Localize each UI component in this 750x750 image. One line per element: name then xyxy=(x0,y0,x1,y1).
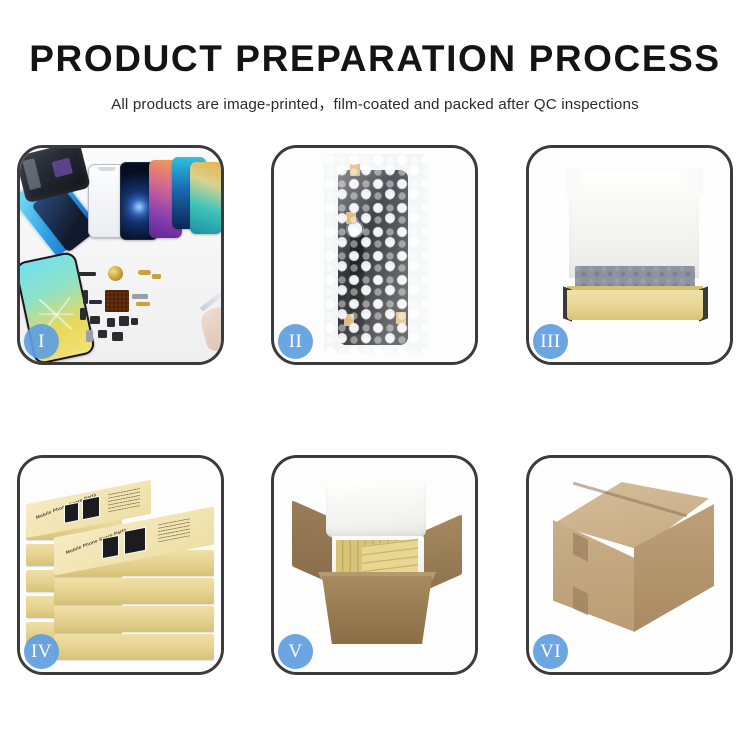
top-box-2-window-b xyxy=(124,527,146,555)
button-part-icon xyxy=(98,330,107,338)
step-badge-2: II xyxy=(278,324,313,359)
page-header: PRODUCT PREPARATION PROCESS All products… xyxy=(0,0,750,114)
page-title: PRODUCT PREPARATION PROCESS xyxy=(0,0,750,79)
vibration-motor-icon xyxy=(119,316,129,326)
component-strip-icon xyxy=(78,272,96,276)
teal-gradient-phone-icon xyxy=(190,162,221,234)
top-box-2-window-a xyxy=(102,535,119,559)
box-stack: Mobile Phone Spare Parts Mobile Phone Sp… xyxy=(26,474,221,662)
process-step-panel-1[interactable]: I xyxy=(17,145,224,365)
small-chip-b-icon xyxy=(89,300,102,304)
step-3-illustration: III xyxy=(529,148,730,362)
flex-cable-gold-icon xyxy=(136,302,150,306)
small-chip-d-icon xyxy=(90,316,100,324)
process-step-panel-6[interactable]: VI xyxy=(526,455,733,675)
process-step-panel-3[interactable]: III xyxy=(526,145,733,365)
top-box-2-spec-lines xyxy=(158,518,190,542)
gold-clip-icon xyxy=(152,274,161,279)
camera-module-icon xyxy=(107,318,115,327)
logic-board-icon xyxy=(105,290,129,312)
flex-cable-icon xyxy=(132,294,148,299)
speaker-coil-icon xyxy=(108,266,123,281)
gold-connector-icon xyxy=(138,270,151,275)
step-5-illustration: V xyxy=(274,458,475,672)
step-2-illustration: II xyxy=(274,148,475,362)
step-badge-3: III xyxy=(533,324,568,359)
top-box-1-window-b xyxy=(82,496,100,520)
stacked-box-front-2 xyxy=(54,578,214,604)
step-badge-4: IV xyxy=(24,634,59,669)
sim-tray-icon xyxy=(86,330,93,342)
step-6-illustration: VI xyxy=(529,458,730,672)
page-subtitle: All products are image-printed，film-coat… xyxy=(0,79,750,114)
stacked-box-front-3 xyxy=(54,606,214,632)
small-chip-c-icon xyxy=(80,308,86,320)
white-foam-lid-icon xyxy=(569,168,699,278)
step-1-illustration: I xyxy=(20,148,221,362)
step-4-illustration: Mobile Phone Spare Parts Mobile Phone Sp… xyxy=(20,458,221,672)
carton-body-icon xyxy=(322,576,432,644)
stacked-box-front-4 xyxy=(54,634,214,660)
step-badge-5: V xyxy=(278,634,313,669)
top-box-1-window-a xyxy=(64,502,79,524)
top-box-1-spec-lines xyxy=(108,488,140,512)
yellow-box-front-icon xyxy=(567,290,703,320)
step-badge-6: VI xyxy=(533,634,568,669)
speaker-part-icon xyxy=(112,332,123,341)
plastic-sheen xyxy=(324,154,428,354)
small-chip-a-icon xyxy=(83,290,88,304)
sensor-icon xyxy=(131,318,138,325)
process-step-grid: I II xyxy=(0,145,750,685)
step-badge-1: I xyxy=(24,324,59,359)
foam-lid-icon xyxy=(326,480,426,538)
process-step-panel-4[interactable]: Mobile Phone Spare Parts Mobile Phone Sp… xyxy=(17,455,224,675)
process-step-panel-5[interactable]: V xyxy=(271,455,478,675)
bubble-wrap-bag xyxy=(324,154,428,354)
process-step-panel-2[interactable]: II xyxy=(271,145,478,365)
